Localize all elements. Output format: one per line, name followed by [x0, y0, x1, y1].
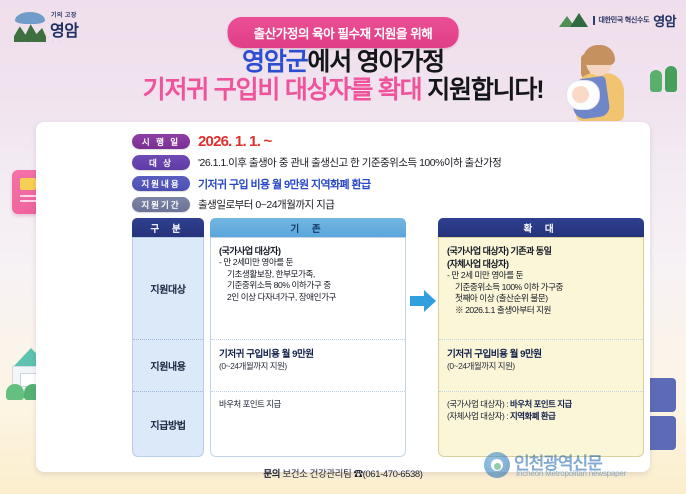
after-payment-local: (자체사업 대상자) : 지역화폐 환급 [447, 410, 635, 422]
after-target-line-2: (자체사업 대상자) [447, 257, 635, 270]
logo-right-prefix: 대한민국 혁신수도 [599, 15, 650, 25]
before-target-line-5: 2인 이상 다자녀가구, 장애인가구 [219, 292, 397, 304]
before-target-line-4: 기준중위소득 80% 이하가구 중 [219, 280, 397, 292]
info-label-content: 지원내용 [132, 176, 190, 191]
table-column-category: 구 분 지원대상 지원내용 지급방법 [132, 218, 204, 457]
info-value-target: '26.1.1.이후 출생아 중 관내 출생신고 한 기준중위소득 100%이하… [198, 155, 501, 170]
table-header-before: 기 존 [210, 218, 406, 237]
after-target-line-5: 첫째아 이상 (출산순위 불문) [447, 293, 635, 305]
after-payment-method-cell: (국가사업 대상자) : 바우처 포인트 지급 (자체사업 대상자) : 지역화… [439, 392, 643, 456]
after-support-target-cell: (국가사업 대상자) 기존과 동일 (자체사업 대상자) - 만 2세 미만 영… [439, 238, 643, 340]
info-value-period: 출생일로부터 0~24개월까지 지급 [198, 197, 334, 212]
before-content-period: (0~24개월까지 지원) [219, 360, 397, 372]
table-column-before: 기 존 (국가사업 대상자) - 만 2세미만 영아를 둔 기초생활보장, 한부… [210, 218, 406, 457]
after-payment-local-label: (자체사업 대상자) : [447, 411, 510, 421]
before-payment-method-cell: 바우처 포인트 지급 [211, 392, 405, 456]
yeongam-county-logo: 기의 고장 영암 · · · · · · [14, 8, 100, 48]
program-info-list: 시 행 일 2026. 1. 1. ~ 대 상 '26.1.1.이후 출생아 중… [132, 132, 640, 216]
after-target-line-3: - 만 2세 미만 영아를 둔 [447, 270, 635, 282]
table-row-label-support-content: 지원내용 [133, 340, 203, 392]
info-row-start-date: 시 행 일 2026. 1. 1. ~ [132, 132, 640, 151]
headline-emphasis: 기저귀 구입비 대상자를 확대 [143, 76, 422, 104]
expansion-arrow [410, 290, 436, 318]
headline-line-2-rest: 지원합니다! [421, 76, 543, 104]
contact-phone: ☎(061-470-6538) [354, 469, 423, 480]
info-row-period: 지원기간 출생일로부터 0~24개월까지 지급 [132, 195, 640, 214]
table-column-after: 확 대 (국가사업 대상자) 기존과 동일 (자체사업 대상자) - 만 2세 … [438, 218, 644, 457]
contact-label: 문의 [263, 469, 280, 480]
before-target-line-3: 기초생활보장, 한부모가족, [219, 269, 397, 281]
table-row-label-payment-method: 지급방법 [133, 392, 203, 456]
after-payment-national-value: 바우처 포인트 지급 [510, 399, 572, 409]
info-value-content: 기저귀 구입 비용 월 9만원 지역화폐 환급 [198, 176, 371, 192]
after-payment-local-value: 지역화폐 환급 [510, 411, 555, 421]
mountain-icon [559, 13, 589, 27]
logo-dots: · · · · · · [24, 39, 63, 45]
table-header-after: 확 대 [438, 218, 644, 237]
after-content-period: (0~24개월까지 지원) [447, 360, 635, 372]
table-header-category: 구 분 [132, 218, 204, 237]
wave-shape [15, 12, 45, 24]
table-row-label-support-target: 지원대상 [133, 238, 203, 340]
after-target-line-1: (국가사업 대상자) 기존과 동일 [447, 244, 635, 257]
main-content-card: 시 행 일 2026. 1. 1. ~ 대 상 '26.1.1.이후 출생아 중… [36, 122, 650, 472]
mother-with-baby-illustration [564, 48, 646, 120]
headline-line-1-rest: 에서 영아가정 [307, 48, 444, 76]
info-row-content: 지원내용 기저귀 구입 비용 월 9만원 지역화폐 환급 [132, 174, 640, 193]
trees-illustration [650, 62, 680, 96]
after-support-content-cell: 기저귀 구입비용 월 9만원 (0~24개월까지 지원) [439, 340, 643, 392]
info-label-start-date: 시 행 일 [132, 134, 190, 149]
watermark-english-name: Incheon Metropolitan newspaper [516, 469, 626, 478]
headline-county-name: 영암군 [242, 48, 307, 76]
contact-department: 보건소 건강관리팀 [280, 469, 353, 480]
before-support-target-cell: (국가사업 대상자) - 만 2세미만 영아를 둔 기초생활보장, 한부모가족,… [211, 238, 405, 340]
after-target-line-4: 기준중위소득 100% 이하 가구중 [447, 282, 635, 294]
before-content-amount: 기저귀 구입비용 월 9만원 [219, 346, 397, 360]
after-payment-national: (국가사업 대상자) : 바우처 포인트 지급 [447, 398, 635, 410]
before-cells: (국가사업 대상자) - 만 2세미만 영아를 둔 기초생활보장, 한부모가족,… [210, 237, 406, 457]
before-support-content-cell: 기저귀 구입비용 월 9만원 (0~24개월까지 지원) [211, 340, 405, 392]
divider-bar [593, 16, 595, 25]
info-label-period: 지원기간 [132, 197, 190, 212]
comparison-table: 구 분 지원대상 지원내용 지급방법 기 존 (국가사업 대상자) - 만 2세… [132, 218, 644, 458]
logo-right-name: 영암 [653, 11, 676, 30]
before-payment-value: 바우처 포인트 지급 [219, 398, 397, 410]
after-content-amount: 기저귀 구입비용 월 9만원 [447, 346, 635, 360]
info-label-target: 대 상 [132, 155, 190, 170]
pink-subtitle-banner: 출산가정의 육아 필수재 지원을 위해 [228, 17, 459, 48]
after-payment-national-label: (국가사업 대상자) : [447, 399, 510, 409]
before-target-line-2: - 만 2세미만 영아를 둔 [219, 257, 397, 269]
info-row-target: 대 상 '26.1.1.이후 출생아 중 관내 출생신고 한 기준중위소득 10… [132, 153, 640, 172]
newspaper-watermark: 인천광역신문 Incheon Metropolitan newspaper [480, 448, 680, 488]
info-value-start-date: 2026. 1. 1. ~ [198, 133, 271, 150]
innovation-capital-logo: 대한민국 혁신수도 영암 [559, 9, 677, 31]
logo-name: 영암 [50, 17, 78, 41]
header-banner: 기의 고장 영암 · · · · · · 대한민국 혁신수도 영암 출산가정의 … [0, 0, 686, 120]
after-target-line-6: ※ 2026.1.1 출생아부터 지원 [447, 305, 635, 317]
after-cells: (국가사업 대상자) 기존과 동일 (자체사업 대상자) - 만 2세 미만 영… [438, 237, 644, 457]
category-cells: 지원대상 지원내용 지급방법 [132, 237, 204, 457]
before-target-line-1: (국가사업 대상자) [219, 244, 397, 257]
